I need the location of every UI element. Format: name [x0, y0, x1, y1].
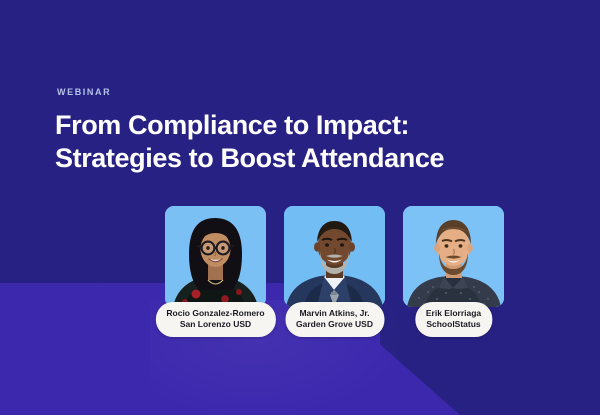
speaker-organization: SchoolStatus: [426, 319, 481, 330]
webinar-promo-slide: WEBINAR From Compliance to Impact: Strat…: [0, 0, 600, 415]
speaker-name-card: Rocio Gonzalez-Romero San Lorenzo USD: [155, 302, 275, 337]
speaker-name: Erik Elorriaga: [426, 308, 481, 319]
page-title: From Compliance to Impact: Strategies to…: [55, 109, 555, 175]
speaker-organization: San Lorenzo USD: [166, 319, 264, 330]
speaker-organization: Garden Grove USD: [296, 319, 373, 330]
list-item: Rocio Gonzalez-Romero San Lorenzo USD: [165, 206, 266, 307]
list-item: Marvin Atkins, Jr. Garden Grove USD: [284, 206, 385, 307]
page-title-line-2: Strategies to Boost Attendance: [55, 143, 444, 173]
eyebrow-label: WEBINAR: [57, 87, 111, 97]
speaker-list: Rocio Gonzalez-Romero San Lorenzo USD: [165, 206, 504, 307]
speaker-portrait-marvin-atkins-jr: [284, 206, 385, 307]
speaker-name-card: Erik Elorriaga SchoolStatus: [415, 302, 492, 337]
speaker-portrait-erik-elorriaga: [403, 206, 504, 307]
speaker-portrait-rocio-gonzalez-romero: [165, 206, 266, 307]
speaker-name-card: Marvin Atkins, Jr. Garden Grove USD: [285, 302, 384, 337]
speaker-name: Marvin Atkins, Jr.: [296, 308, 373, 319]
list-item: Erik Elorriaga SchoolStatus: [403, 206, 504, 307]
page-title-line-1: From Compliance to Impact:: [55, 110, 409, 140]
speaker-name: Rocio Gonzalez-Romero: [166, 308, 264, 319]
